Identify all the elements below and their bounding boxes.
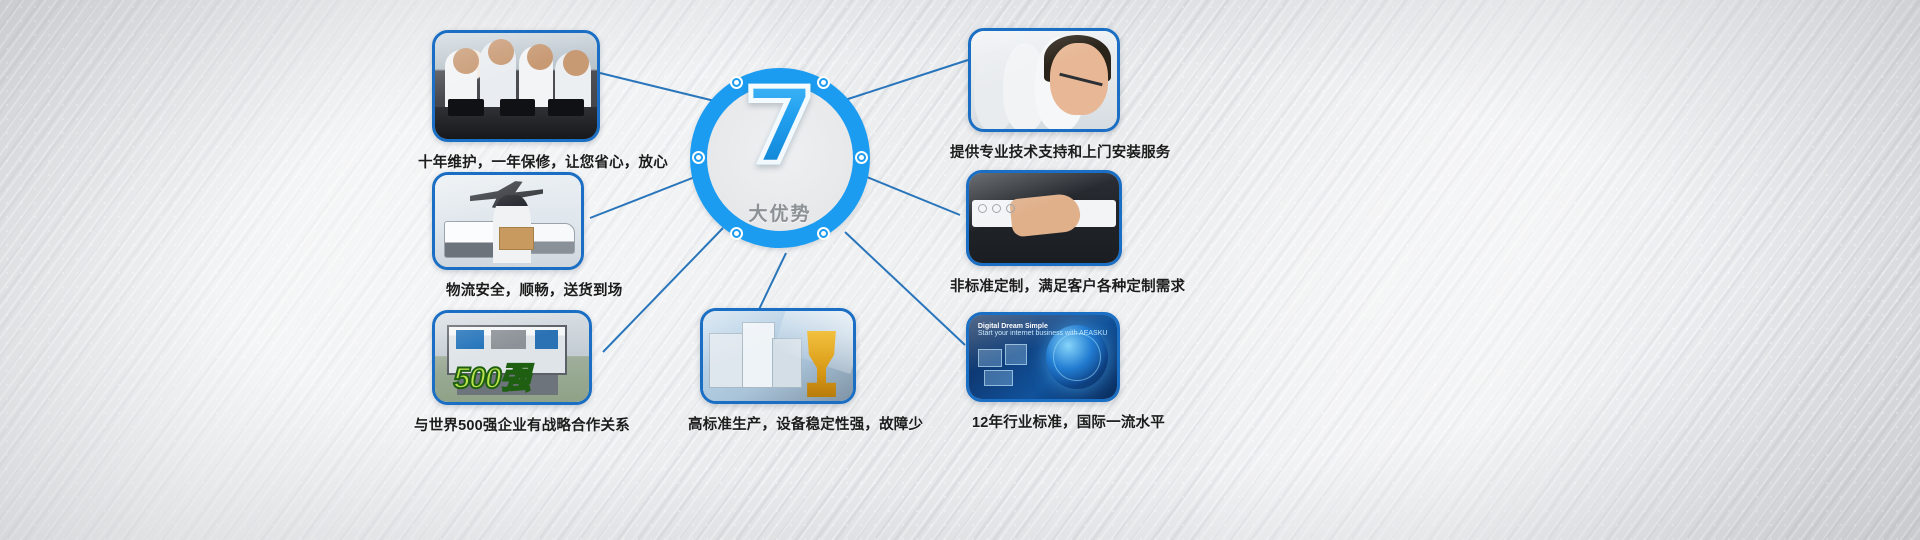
feature-thumbnail[interactable]: [700, 308, 856, 404]
connector-lines: [0, 0, 1920, 540]
feature-caption: 提供专业技术支持和上门安装服务: [950, 141, 1171, 162]
feature-thumbnail[interactable]: [968, 28, 1120, 132]
feature-caption: 物流安全，顺畅，送货到场: [446, 279, 622, 300]
fortune500-badge: 500强: [453, 353, 529, 397]
feature-card-production[interactable]: 高标准生产，设备稳定性强，故障少: [700, 308, 923, 434]
feature-caption: 十年维护，一年保修，让您省心，放心: [418, 151, 668, 172]
feature-thumbnail[interactable]: [966, 170, 1122, 266]
building-trophy-photo: [703, 311, 853, 401]
factory-machine-photo: 500强: [435, 313, 589, 402]
hub-dot-icon: [730, 227, 743, 240]
team-meeting-photo: [435, 33, 597, 139]
feature-caption: 非标准定制，满足客户各种定制需求: [950, 275, 1185, 296]
feature-card-standard[interactable]: Digital Dream Simple Start your internet…: [966, 312, 1165, 432]
feature-thumbnail[interactable]: 500强: [432, 310, 592, 405]
logistics-delivery-photo: [435, 175, 581, 267]
feature-caption: 高标准生产，设备稳定性强，故障少: [688, 413, 923, 434]
hub-dot-icon: [817, 227, 830, 240]
feature-thumbnail[interactable]: [432, 172, 584, 270]
feature-card-customization[interactable]: 非标准定制，满足客户各种定制需求: [966, 170, 1185, 296]
feature-card-logistics[interactable]: 物流安全，顺畅，送货到场: [432, 172, 622, 300]
digital-photo-headline: Digital Dream Simple: [978, 323, 1048, 330]
feature-card-tech-support[interactable]: 提供专业技术支持和上门安装服务: [968, 28, 1171, 162]
customer-service-headset-photo: [971, 31, 1117, 129]
feature-card-maintenance[interactable]: 十年维护，一年保修，让您省心，放心: [432, 30, 668, 172]
hub-number: 7: [690, 74, 870, 178]
connector-line-custom: [862, 175, 960, 215]
digital-globe-photo: Digital Dream Simple Start your internet…: [969, 315, 1117, 399]
handshake-photo: [969, 173, 1119, 263]
feature-caption: 与世界500强企业有战略合作关系: [414, 414, 630, 435]
feature-caption: 12年行业标准，国际一流水平: [972, 411, 1165, 432]
feature-thumbnail[interactable]: Digital Dream Simple Start your internet…: [966, 312, 1120, 402]
digital-photo-subheadline: Start your internet business with AEASKU: [978, 330, 1108, 337]
feature-thumbnail[interactable]: [432, 30, 600, 142]
feature-card-fortune500[interactable]: 500强 与世界500强企业有战略合作关系: [432, 310, 630, 435]
hub-subtitle: 大优势: [690, 199, 870, 226]
hub-badge: 7 大优势: [690, 68, 870, 248]
banner-stage: 7 大优势 十年维护，一年保修，让您省心，放心 物: [0, 0, 1920, 540]
